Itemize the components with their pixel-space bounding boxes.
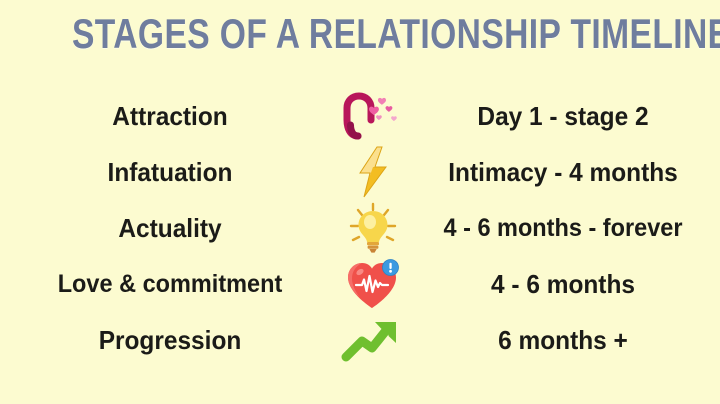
stage-icon — [340, 146, 406, 198]
relationship-timeline-infographic: STAGES OF A RELATIONSHIP TIMELINE Attrac… — [0, 0, 720, 404]
list-item: Attraction — [0, 88, 720, 144]
stage-duration-label: Day 1 - stage 2 — [415, 102, 710, 130]
light-bulb-icon — [347, 202, 399, 254]
stage-duration-label: 6 months + — [415, 326, 710, 354]
list-item: Progression 6 months + — [0, 312, 720, 368]
stage-duration-label: 4 - 6 months — [415, 270, 710, 298]
stage-name-label: Love & commitment — [10, 270, 330, 298]
high-voltage-lightning-bolt-icon — [355, 146, 391, 198]
magnet-with-hearts-icon — [346, 92, 400, 140]
stage-icon — [340, 92, 406, 140]
page-title: STAGES OF A RELATIONSHIP TIMELINE — [72, 11, 648, 57]
stage-icon — [340, 257, 406, 311]
stage-icon — [340, 317, 406, 363]
chart-increasing-arrow-icon — [344, 317, 402, 363]
stage-duration-label: 4 - 6 months - forever — [415, 214, 710, 242]
list-item: Love & commitment 4 - 6 months — [0, 256, 720, 312]
beating-heart-with-alert-badge-icon — [345, 257, 401, 311]
stage-name-label: Actuality — [10, 214, 330, 242]
list-item: Infatuation Intimacy - 4 months — [0, 144, 720, 200]
stage-name-label: Progression — [10, 326, 330, 354]
stage-name-label: Infatuation — [10, 158, 330, 186]
list-item: Actuality — [0, 200, 720, 256]
stage-name-label: Attraction — [10, 102, 330, 130]
stages-list: Attraction — [0, 88, 720, 388]
stage-duration-label: Intimacy - 4 months — [415, 158, 710, 186]
stage-icon — [340, 202, 406, 254]
